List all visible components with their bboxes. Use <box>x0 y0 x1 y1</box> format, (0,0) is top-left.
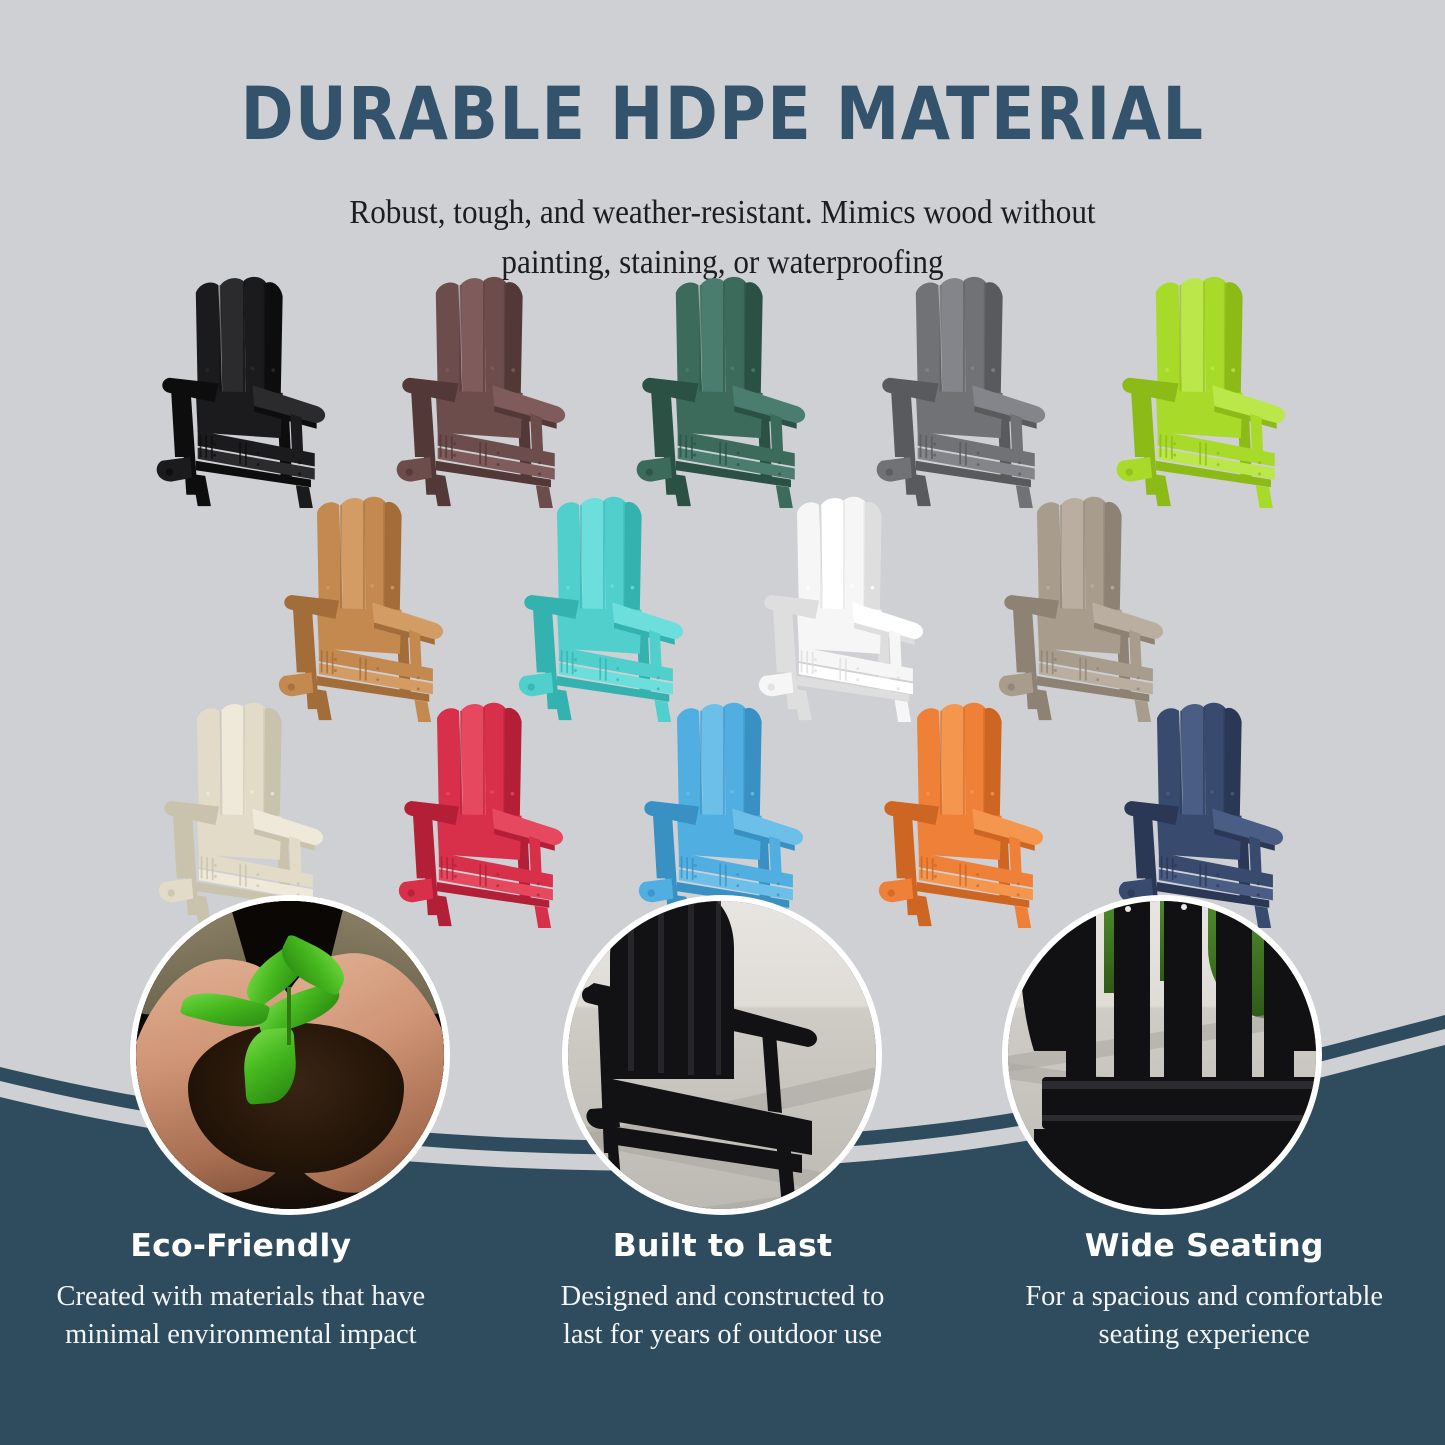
infographic-canvas: DURABLE HDPE MATERIAL Robust, tough, and… <box>0 0 1445 1445</box>
black-adirondack-chair-on-patio-photo <box>562 895 882 1215</box>
chair-wide-seat-closeup-photo <box>1002 895 1322 1215</box>
feature-body-line-2: minimal environmental impact <box>65 1319 416 1350</box>
hands-holding-seedling-photo <box>130 895 450 1215</box>
chair-swatch-dark-green[interactable] <box>611 272 835 508</box>
patio-chair-silhouette <box>576 895 828 1215</box>
header: DURABLE HDPE MATERIAL Robust, tough, and… <box>0 0 1445 289</box>
feature-body-line-1: Designed and constructed to <box>561 1281 885 1312</box>
chair-swatch-teak[interactable] <box>251 492 475 722</box>
chair-swatch-turquoise[interactable] <box>491 492 715 722</box>
chair-row-3 <box>0 698 1445 928</box>
feature-heading: Eco-Friendly <box>14 1228 468 1264</box>
feature-body: Designed and constructed to last for yea… <box>496 1278 950 1353</box>
chair-swatch-ivory[interactable] <box>131 698 355 928</box>
feature-caption-built-to-last: Built to Last Designed and constructed t… <box>482 1228 964 1353</box>
feature-body-line-1: For a spacious and comfortable <box>1025 1281 1383 1312</box>
chair-swatch-gray[interactable] <box>851 272 1075 508</box>
feature-body-line-1: Created with materials that have <box>56 1281 425 1312</box>
feature-caption-eco-friendly: Eco-Friendly Created with materials that… <box>0 1228 482 1353</box>
feature-captions: Eco-Friendly Created with materials that… <box>0 1228 1445 1353</box>
feature-photos <box>0 895 1445 1225</box>
chair-swatch-brown[interactable] <box>371 272 595 508</box>
feature-body: Created with materials that have minimal… <box>14 1278 468 1353</box>
feature-body-line-2: last for years of outdoor use <box>563 1319 882 1350</box>
chair-swatch-red[interactable] <box>371 698 595 928</box>
chair-row-1 <box>0 272 1445 508</box>
chair-swatch-black[interactable] <box>131 272 355 508</box>
page-title: DURABLE HDPE MATERIAL <box>22 78 1424 151</box>
feature-caption-wide-seating: Wide Seating For a spacious and comforta… <box>963 1228 1445 1353</box>
feature-heading: Wide Seating <box>977 1228 1431 1264</box>
feature-body: For a spacious and comfortable seating e… <box>977 1278 1431 1353</box>
chair-swatch-light-blue[interactable] <box>611 698 835 928</box>
feature-body-line-2: seating experience <box>1099 1319 1310 1350</box>
chair-swatch-navy-blue[interactable] <box>1091 698 1315 928</box>
feature-heading: Built to Last <box>496 1228 950 1264</box>
chair-swatch-orange[interactable] <box>851 698 1075 928</box>
chair-row-2 <box>0 492 1445 722</box>
chair-swatch-white[interactable] <box>731 492 955 722</box>
subtitle-line-1: Robust, tough, and weather-resistant. Mi… <box>51 188 1395 238</box>
chair-swatch-taupe[interactable] <box>971 492 1195 722</box>
wide-seat-silhouette <box>1008 901 1322 1215</box>
chair-swatch-lime-green[interactable] <box>1091 272 1315 508</box>
